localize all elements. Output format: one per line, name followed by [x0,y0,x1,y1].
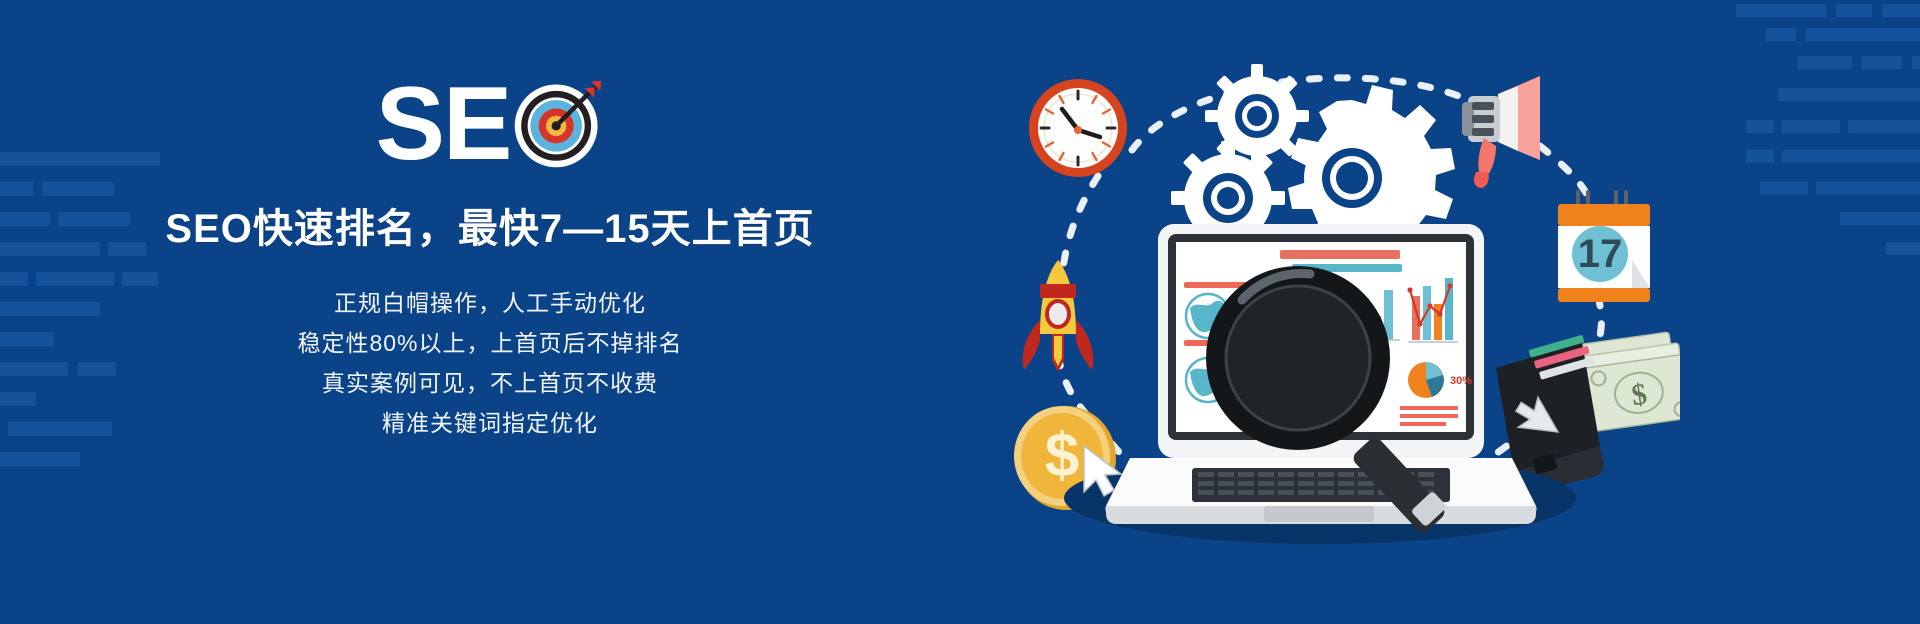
logo-letters: SE [376,80,511,168]
seo-illustration: $ [980,28,1680,588]
feature-item: 正规白帽操作，人工手动优化 [334,288,646,319]
feature-list: 正规白帽操作，人工手动优化 稳定性80%以上，上首页后不掉排名 真实案例可见，不… [297,288,682,439]
laptop-trackpad [1264,506,1374,522]
seo-logo: SE [376,78,605,170]
target-bullseye-icon [512,78,604,170]
chart-percent-label: 30% [1450,375,1472,387]
rocket-icon [1023,260,1093,372]
page-title: SEO快速排名，最快7—15天上首页 [165,196,814,254]
feature-item: 精准关键词指定优化 [382,408,598,439]
calendar-icon: 17 [1558,192,1650,302]
feature-item: 稳定性80%以上，上首页后不掉排名 [297,328,682,359]
seo-banner: SE SEO快速排名，最快7—15天上首页 正规白帽操作，人工手动优化 [0,0,1920,624]
pie-chart-2 [1408,362,1444,398]
coin-dollar-symbol: $ [1045,422,1079,491]
feature-item: 真实案例可见，不上首页不收费 [322,368,658,399]
megaphone-icon [1462,76,1540,188]
calendar-day-number: 17 [1578,232,1623,276]
text-content-column: SE SEO快速排名，最快7—15天上首页 正规白帽操作，人工手动优化 [0,0,980,624]
clock-icon [1029,79,1127,177]
decorative-code-blocks-right [1690,0,1920,624]
